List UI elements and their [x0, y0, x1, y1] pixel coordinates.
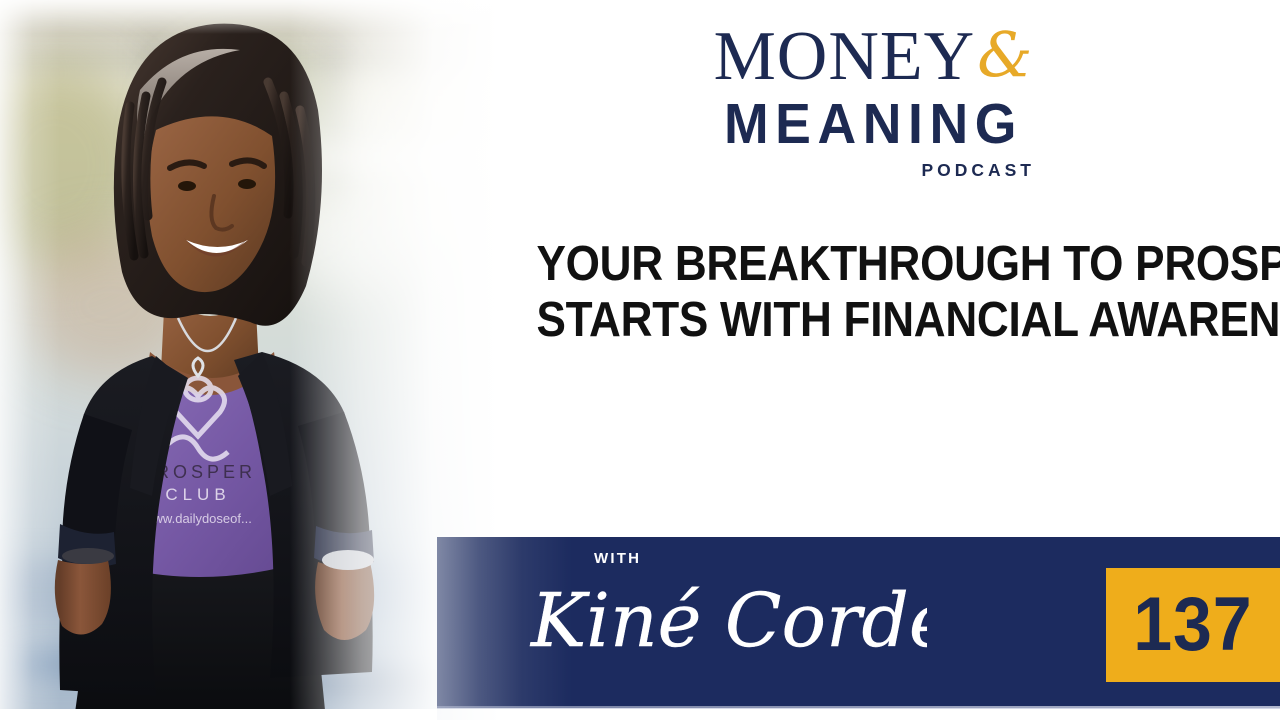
figure-eye-right — [238, 179, 256, 189]
figure-eye-left — [178, 181, 196, 191]
episode-title-line-1: YOUR BREAKTHROUGH TO PROSPERITY — [537, 236, 1194, 292]
episode-number-badge: 137 — [1106, 568, 1280, 682]
bottom-bar-underline — [437, 706, 1280, 709]
episode-number: 137 — [1133, 587, 1252, 663]
logo-meaning-text: MEANING — [716, 94, 1031, 154]
shirt-text-club: CLUB — [165, 485, 230, 504]
host-signature: Kiné Corder — [527, 560, 927, 675]
photo-left-fade — [0, 0, 60, 720]
shirt-text-url: www.dailydoseof... — [143, 511, 252, 526]
podcast-cover-image: PROSPER CLUB www.dailydoseof... — [0, 0, 1280, 720]
logo-money-text: MONEY — [714, 22, 976, 92]
episode-title-line-2: STARTS WITH FINANCIAL AWARENESS — [537, 292, 1194, 348]
photo-top-fade — [0, 0, 500, 34]
logo-money-line: MONEY& — [706, 22, 1041, 92]
episode-title: YOUR BREAKTHROUGH TO PROSPERITY STARTS W… — [500, 236, 1230, 348]
ampersand-icon: & — [977, 24, 1033, 86]
host-signature-text: Kiné Corder — [529, 578, 927, 664]
figure-bracelet — [62, 548, 114, 564]
podcast-logo: MONEY& MEANING PODCAST — [706, 22, 1041, 181]
bottom-white-strip — [0, 709, 437, 720]
logo-podcast-text: PODCAST — [706, 160, 1041, 181]
host-photo: PROSPER CLUB www.dailydoseof... — [0, 0, 500, 720]
